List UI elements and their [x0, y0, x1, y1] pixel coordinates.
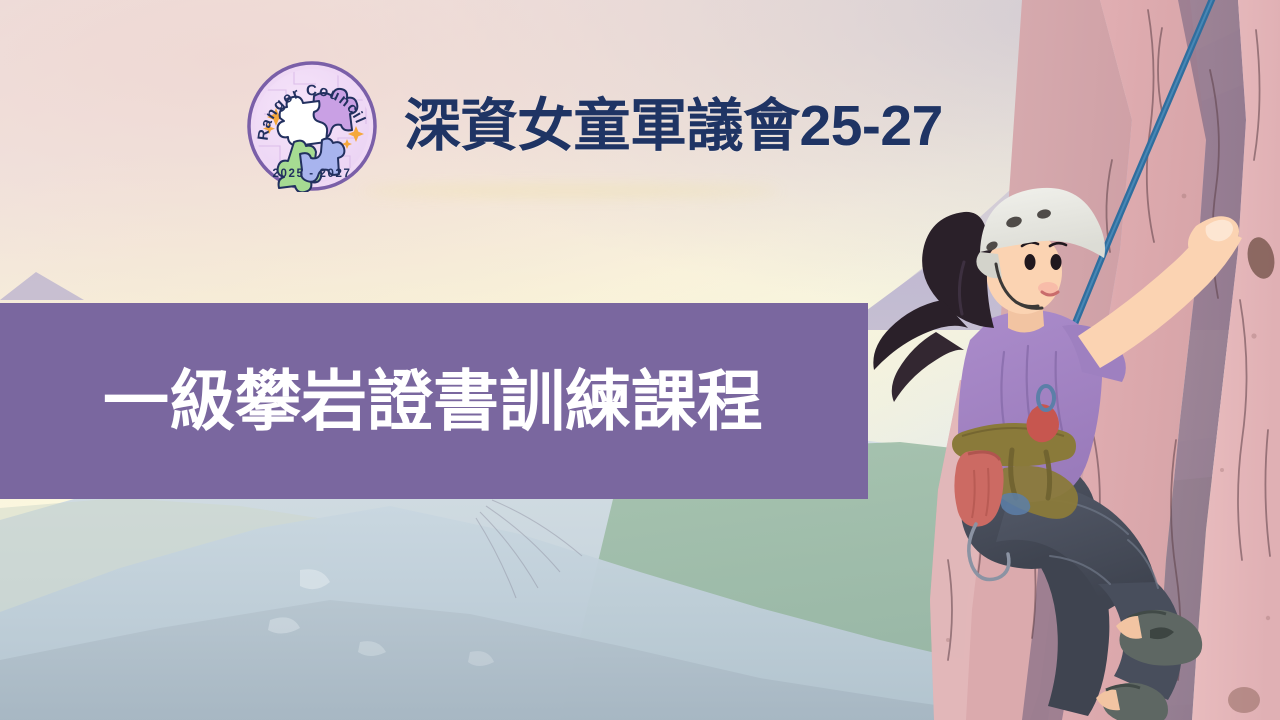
course-title: 一級攀岩證書訓練課程	[103, 368, 763, 434]
page-title: 深資女童軍議會25-27	[404, 98, 943, 155]
course-title-banner: 一級攀岩證書訓練課程	[0, 303, 868, 499]
ranger-council-logo[interactable]: Ranger Council 2025 - 2027	[246, 60, 378, 192]
logo-year-text: 2025 - 2027	[273, 168, 352, 180]
poster-root: Ranger Council 2025 - 2027 深資女童軍議會25-27 …	[0, 0, 1280, 720]
header: Ranger Council 2025 - 2027 深資女童軍議會25-27	[246, 60, 943, 192]
